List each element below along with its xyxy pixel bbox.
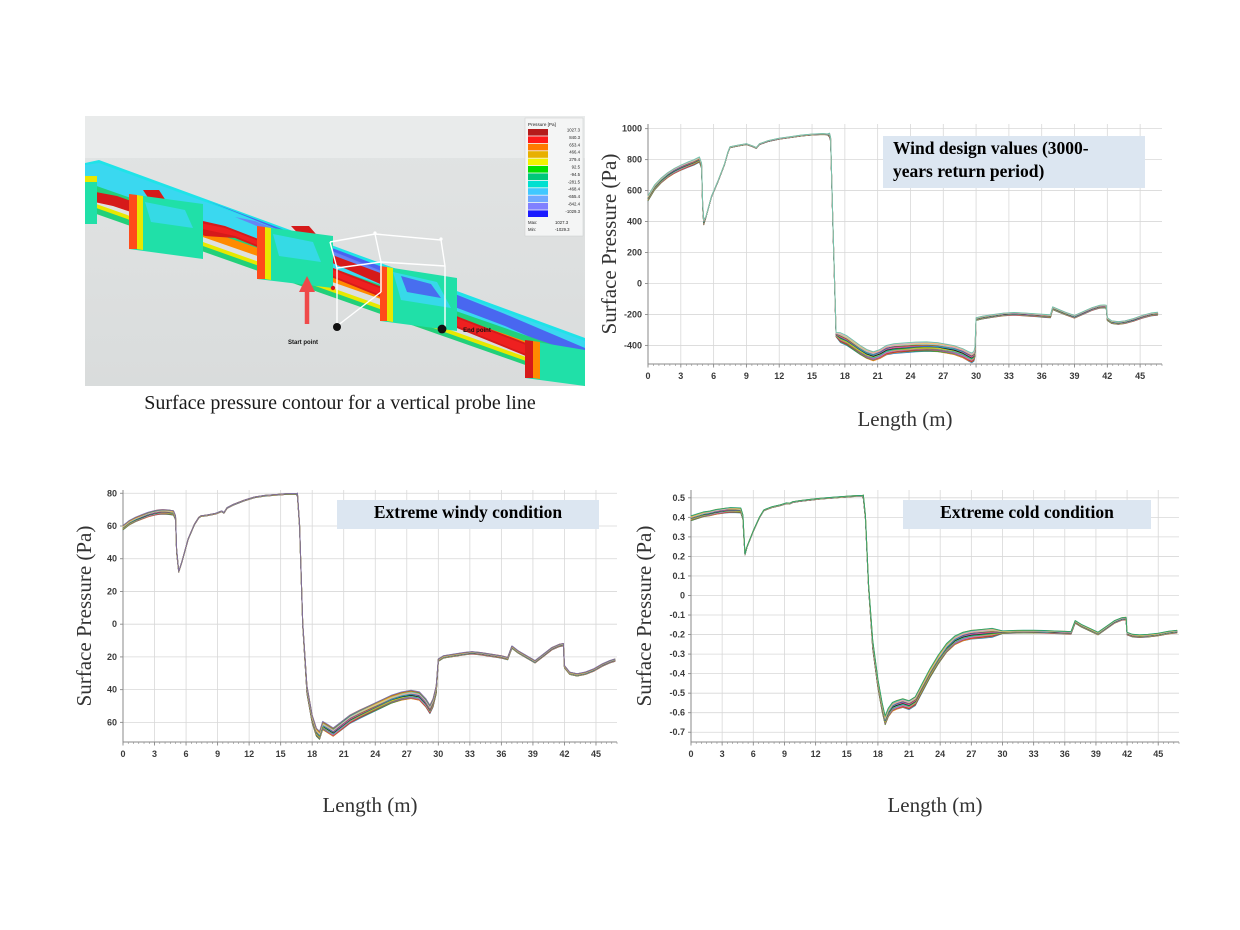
- y-tick-label: 40: [107, 554, 117, 564]
- y-tick-label: 20: [107, 652, 117, 662]
- y-tick-label: -0.2: [669, 630, 685, 640]
- y-tick-label: 400: [627, 217, 642, 227]
- x-tick-label: 21: [904, 749, 914, 759]
- legend-value: 466.4: [569, 150, 580, 155]
- legend-swatch: [528, 136, 548, 143]
- x-tick-label: 0: [645, 371, 650, 381]
- x-tick-label: 12: [244, 749, 254, 759]
- legend-swatch: [528, 151, 548, 158]
- legend-min-value: -1029.3: [555, 227, 570, 232]
- surface-pressure-contour-figure: Start point End point Pressure [Pa] 1027…: [85, 116, 585, 386]
- x-tick-label: 0: [120, 749, 125, 759]
- pier-2: [129, 194, 203, 259]
- y-tick-label: -0.3: [669, 649, 685, 659]
- x-tick-label: 45: [591, 749, 601, 759]
- x-tick-label: 24: [370, 749, 380, 759]
- y-axis-title: Surface Pressure (Pa): [600, 154, 621, 335]
- x-tick-label: 3: [720, 749, 725, 759]
- x-tick-label: 6: [184, 749, 189, 759]
- x-tick-label: 45: [1153, 749, 1163, 759]
- x-tick-label: 18: [840, 371, 850, 381]
- contour-caption: Surface pressure contour for a vertical …: [60, 392, 620, 415]
- legend-swatch: [528, 144, 548, 151]
- x-tick-label: 36: [1037, 371, 1047, 381]
- x-tick-label: 15: [842, 749, 852, 759]
- y-tick-label: 0.5: [672, 493, 685, 503]
- legend-swatch: [528, 173, 548, 180]
- x-tick-label: 3: [678, 371, 683, 381]
- x-axis-title: Length (m): [887, 793, 982, 817]
- y-axis-title: Surface Pressure (Pa): [75, 526, 96, 707]
- x-tick-label: 15: [276, 749, 286, 759]
- x-tick-label: 30: [433, 749, 443, 759]
- legend-value: -842.4: [568, 202, 581, 207]
- x-tick-label: 30: [997, 749, 1007, 759]
- y-tick-label: -0.6: [669, 708, 685, 718]
- legend-swatch: [528, 129, 548, 136]
- y-tick-label: 60: [107, 521, 117, 531]
- y-tick-label: 20: [107, 586, 117, 596]
- x-tick-label: 9: [744, 371, 749, 381]
- x-tick-label: 6: [751, 749, 756, 759]
- legend-swatch: [528, 203, 548, 210]
- x-tick-label: 33: [1029, 749, 1039, 759]
- x-tick-label: 24: [935, 749, 945, 759]
- x-tick-label: 12: [811, 749, 821, 759]
- x-tick-label: 39: [1070, 371, 1080, 381]
- y-tick-label: -0.4: [669, 669, 685, 679]
- x-tick-label: 33: [465, 749, 475, 759]
- end-point-marker: [438, 325, 447, 334]
- badge-label: Extreme cold condition: [940, 502, 1114, 522]
- x-tick-label: 3: [152, 749, 157, 759]
- chart-canvas: 03691215182124273033363942450.50.40.30.2…: [635, 478, 1195, 818]
- chart-canvas: 0369121518212427303336394245100080060040…: [600, 112, 1180, 432]
- y-tick-label: 40: [107, 685, 117, 695]
- y-tick-label: 600: [627, 186, 642, 196]
- legend-value: 1027.3: [567, 128, 581, 133]
- x-tick-label: 39: [1091, 749, 1101, 759]
- chart-wind-design: 0369121518212427303336394245100080060040…: [600, 112, 1180, 432]
- legend-swatch: [528, 181, 548, 188]
- x-tick-label: 18: [873, 749, 883, 759]
- legend-title: Pressure [Pa]: [528, 122, 556, 127]
- x-tick-label: 27: [966, 749, 976, 759]
- probe-red-dot: [331, 286, 335, 290]
- contour-sky: [85, 116, 585, 158]
- legend-value: -94.5: [570, 172, 580, 177]
- legend-value: -655.4: [568, 194, 581, 199]
- x-tick-label: 12: [774, 371, 784, 381]
- y-tick-label: 0.2: [672, 551, 685, 561]
- y-tick-label: 1000: [622, 124, 642, 134]
- badge-label: Wind design values (3000-: [893, 138, 1089, 158]
- chart-extreme-cold: 03691215182124273033363942450.50.40.30.2…: [635, 478, 1195, 818]
- y-tick-label: 60: [107, 717, 117, 727]
- x-tick-label: 21: [873, 371, 883, 381]
- x-tick-label: 27: [938, 371, 948, 381]
- legend-swatch: [528, 196, 548, 203]
- x-tick-label: 6: [711, 371, 716, 381]
- x-tick-label: 42: [1102, 371, 1112, 381]
- x-tick-label: 24: [905, 371, 915, 381]
- legend-swatch: [528, 210, 548, 217]
- y-tick-label: -400: [624, 340, 642, 350]
- y-tick-label: -0.1: [669, 610, 685, 620]
- contour-canvas: Start point End point Pressure [Pa] 1027…: [85, 116, 585, 386]
- x-tick-label: 21: [339, 749, 349, 759]
- x-tick-label: 39: [528, 749, 538, 759]
- x-tick-label: 9: [782, 749, 787, 759]
- legend-value: 279.4: [569, 157, 580, 162]
- y-tick-label: 0: [112, 619, 117, 629]
- start-point-label: Start point: [288, 340, 318, 346]
- end-point-label: End point: [463, 328, 491, 334]
- x-tick-label: 42: [559, 749, 569, 759]
- y-tick-label: 80: [107, 488, 117, 498]
- legend-value: -281.5: [568, 179, 581, 184]
- chart-canvas: 0369121518212427303336394245806040200204…: [75, 478, 635, 818]
- y-tick-label: 0.4: [672, 512, 685, 522]
- legend-value: 653.4: [569, 142, 580, 147]
- x-tick-label: 30: [971, 371, 981, 381]
- probe-box-vertex: [439, 237, 442, 240]
- pressure-legend: Pressure [Pa] 1027.3840.3653.4466.4279.4…: [525, 118, 583, 236]
- badge-label: years return period): [893, 161, 1044, 181]
- pier-abutment-1: [85, 176, 97, 224]
- legend-value: -1029.3: [565, 209, 580, 214]
- y-tick-label: -200: [624, 309, 642, 319]
- x-tick-label: 0: [688, 749, 693, 759]
- chart-extreme-windy: 0369121518212427303336394245806040200204…: [75, 478, 635, 818]
- x-axis-title: Length (m): [322, 793, 417, 817]
- legend-value: 840.3: [569, 135, 580, 140]
- y-tick-label: 0.3: [672, 532, 685, 542]
- x-tick-label: 36: [496, 749, 506, 759]
- x-tick-label: 36: [1060, 749, 1070, 759]
- pier-3: [257, 226, 333, 288]
- legend-value: -468.4: [568, 187, 581, 192]
- start-point-marker: [333, 323, 341, 331]
- x-tick-label: 27: [402, 749, 412, 759]
- y-tick-label: 0: [680, 590, 685, 600]
- y-tick-label: 0: [637, 278, 642, 288]
- x-tick-label: 42: [1122, 749, 1132, 759]
- y-axis-title: Surface Pressure (Pa): [635, 526, 656, 707]
- legend-value: 92.5: [572, 165, 581, 170]
- legend-max-label: Max:: [528, 220, 537, 225]
- legend-max-value: 1027.3: [555, 220, 569, 225]
- legend-swatch: [528, 159, 548, 166]
- probe-box-vertex: [373, 231, 376, 234]
- badge-label: Extreme windy condition: [374, 502, 563, 522]
- x-tick-label: 45: [1135, 371, 1145, 381]
- x-axis-title: Length (m): [857, 407, 952, 431]
- x-tick-label: 33: [1004, 371, 1014, 381]
- legend-swatch: [528, 166, 548, 173]
- legend-min-label: Min:: [528, 227, 536, 232]
- y-tick-label: -0.5: [669, 688, 685, 698]
- y-tick-label: 200: [627, 248, 642, 258]
- y-tick-label: 0.1: [672, 571, 685, 581]
- y-tick-label: -0.7: [669, 727, 685, 737]
- y-tick-label: 800: [627, 155, 642, 165]
- legend-swatch: [528, 188, 548, 195]
- x-tick-label: 15: [807, 371, 817, 381]
- x-tick-label: 18: [307, 749, 317, 759]
- x-tick-label: 9: [215, 749, 220, 759]
